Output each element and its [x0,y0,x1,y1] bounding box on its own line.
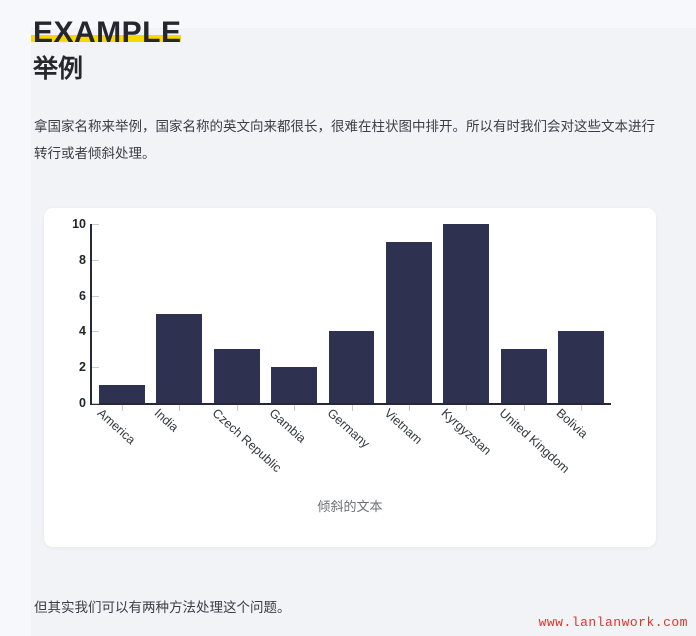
x-axis-tick-label: Bolivia [554,406,591,441]
title-english-wrapper: EXAMPLE [33,18,182,48]
bar-series [93,224,610,403]
page-root: EXAMPLE 举例 拿国家名称来举例，国家名称的英文向来都很长，很难在柱状图中… [0,0,696,636]
x-axis-tick-label: America [94,406,137,447]
page-title-chinese: 举例 [33,55,653,84]
outro-paragraph: 但其实我们可以有两种方法处理这个问题。 [34,597,594,619]
x-axis-title: 倾斜的文本 [44,496,656,515]
x-axis-tick-label: Gambia [267,406,309,446]
page-header: EXAMPLE 举例 [33,18,653,84]
y-axis-tick-label: 0 [79,396,86,410]
y-axis-tick-label: 6 [79,289,86,303]
y-axis-tick-label: 10 [72,217,86,231]
bar [329,331,375,403]
y-axis-tick-label: 4 [79,324,86,338]
y-axis-tick-mark [92,296,99,297]
page-gutter-left [0,0,31,636]
bar [558,331,604,403]
page-title-english: EXAMPLE [33,18,182,48]
bar [271,367,317,403]
chart-card: 0246810 AmericaIndiaCzech RepublicGambia… [44,208,656,547]
bar [214,349,260,403]
y-axis-tick-mark [92,403,99,404]
y-axis-tick-label: 8 [79,253,86,267]
x-axis-tick-label: India [152,406,182,435]
intro-paragraph: 拿国家名称来举例，国家名称的英文向来都很长，很难在柱状图中排开。所以有时我们会对… [34,113,659,167]
plot-area [90,224,610,403]
y-axis-labels: 0246810 [54,224,86,403]
bar-chart: 0246810 AmericaIndiaCzech RepublicGambia… [44,208,656,547]
y-axis-tick-mark [92,367,99,368]
bar [501,349,547,403]
y-axis-line [90,224,92,404]
x-axis-line [90,403,611,405]
x-axis-tick-label: Vietnam [382,406,425,447]
bar [443,224,489,403]
y-axis-tick-label: 2 [79,360,86,374]
x-axis-labels: AmericaIndiaCzech RepublicGambiaGermanyV… [90,406,615,496]
site-watermark: www.lanlanwork.com [539,615,688,630]
bar [99,385,145,403]
bar [156,314,202,404]
y-axis-tick-mark [92,331,99,332]
y-axis-tick-mark [92,224,99,225]
bar [386,242,432,403]
x-axis-tick-label: Germany [324,406,372,451]
y-axis-tick-mark [92,260,99,261]
x-axis-tick-label: Kyrgyzstan [439,406,494,458]
